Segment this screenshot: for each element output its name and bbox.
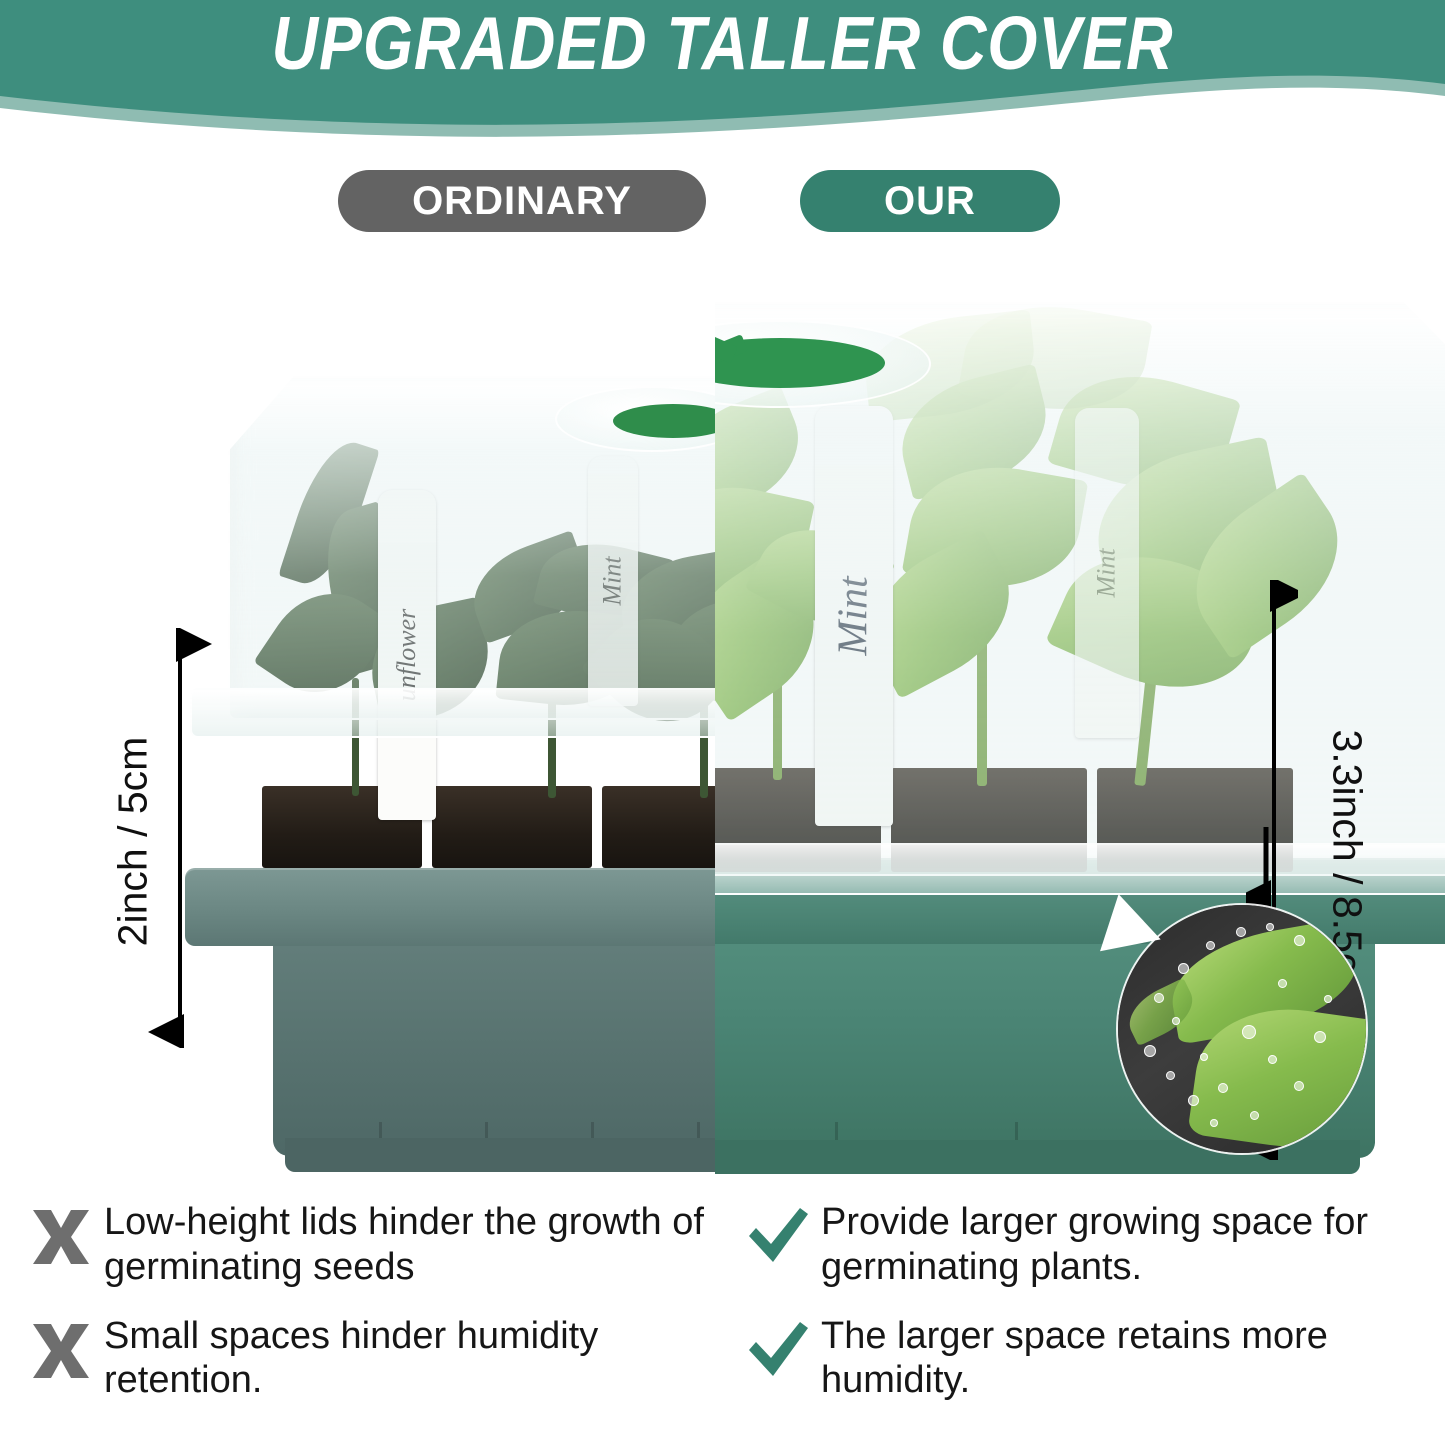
condensation-closeup-inset (1118, 905, 1366, 1153)
ordinary-product-half: unflower Mint Basil (0, 258, 715, 1193)
ordinary-tray-body (273, 918, 715, 1156)
ordinary-dome-lip (190, 688, 715, 738)
badge-ordinary: ORDINARY (338, 170, 706, 232)
bullet-text: The larger space retains more humidity. (811, 1312, 1445, 1404)
infographic-page: UPGRADED TALLER COVER ORDINARY OUR (0, 0, 1445, 1429)
ordinary-tray-rim (185, 868, 715, 946)
bullet-item: Small spaces hinder humidity retention. (28, 1312, 728, 1404)
ordinary-tray-foot (285, 1138, 715, 1172)
cross-icon (28, 1198, 94, 1276)
cross-icon (28, 1312, 94, 1390)
bullets-negative-column: Low-height lids hinder the growth of ger… (28, 1198, 728, 1425)
check-icon (745, 1312, 811, 1390)
bullets-positive-column: Provide larger growing space for germina… (745, 1198, 1445, 1425)
comparison-bullets: Low-height lids hinder the growth of ger… (0, 1198, 1445, 1429)
check-icon (745, 1198, 811, 1276)
ordinary-height-dimension: 2inch / 5cm (128, 628, 238, 1048)
soil-cell (602, 786, 715, 868)
page-title: UPGRADED TALLER COVER (101, 6, 1344, 81)
bullet-text: Low-height lids hinder the growth of ger… (94, 1198, 728, 1290)
header-banner: UPGRADED TALLER COVER (0, 0, 1445, 145)
comparison-badges: ORDINARY OUR (0, 170, 1445, 240)
dimension-label-ordinary: 2inch / 5cm (109, 737, 156, 947)
bullet-item: Provide larger growing space for germina… (745, 1198, 1445, 1290)
bullet-text: Provide larger growing space for germina… (811, 1198, 1445, 1290)
badge-our: OUR (800, 170, 1060, 232)
bullet-text: Small spaces hinder humidity retention. (94, 1312, 728, 1404)
inset-pointer-arrow-icon (1246, 827, 1286, 917)
bullet-item: Low-height lids hinder the growth of ger… (28, 1198, 728, 1290)
bullet-item: The larger space retains more humidity. (745, 1312, 1445, 1404)
product-comparison-photo: unflower Mint Basil (0, 258, 1445, 1193)
soil-cell (432, 786, 592, 868)
